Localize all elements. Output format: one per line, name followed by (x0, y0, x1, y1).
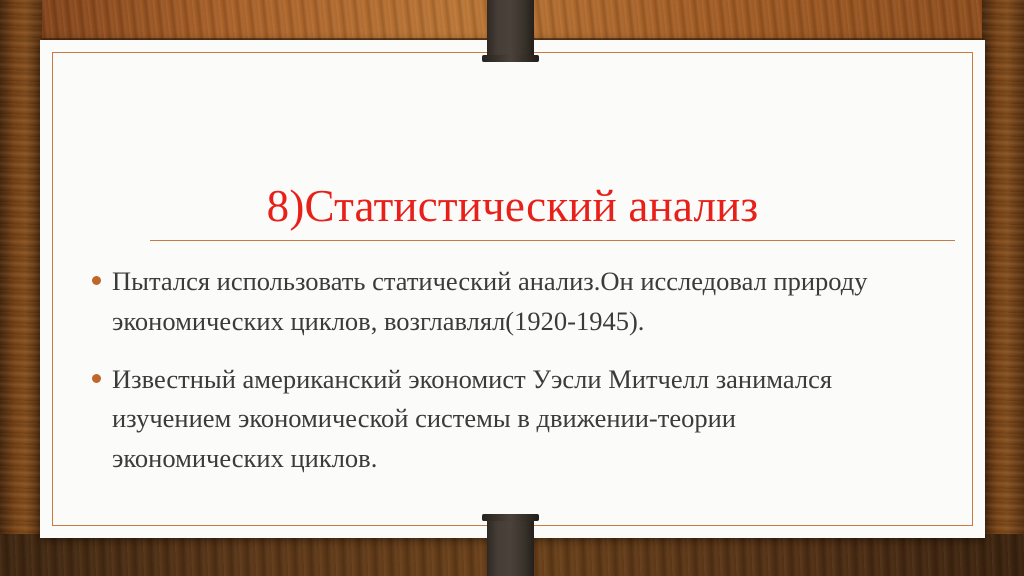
bullet-dot-icon (92, 276, 101, 285)
presentation-slide: 8)Статистический анализ Пытался использо… (0, 0, 1024, 576)
wood-plank-left (0, 0, 42, 576)
wood-plank-right (982, 0, 1024, 576)
list-item-text: Известный американский экономист Уэсли М… (112, 360, 902, 479)
list-item: Известный американский экономист Уэсли М… (92, 360, 972, 479)
list-item: Пытался использовать статический анализ.… (92, 262, 972, 342)
page-title: 8)Статистический анализ (104, 182, 921, 231)
binder-clip-bottom-foot (482, 514, 539, 521)
list-item-text: Пытался использовать статический анализ.… (112, 262, 902, 342)
binder-clip-top-icon (487, 0, 534, 62)
binder-clip-top-foot (482, 55, 539, 62)
bullet-dot-icon (92, 374, 101, 383)
binder-clip-bottom-icon (487, 514, 534, 576)
slide-card: 8)Статистический анализ Пытался использо… (40, 40, 985, 538)
bullet-list: Пытался использовать статический анализ.… (92, 262, 972, 497)
title-divider (150, 240, 955, 241)
